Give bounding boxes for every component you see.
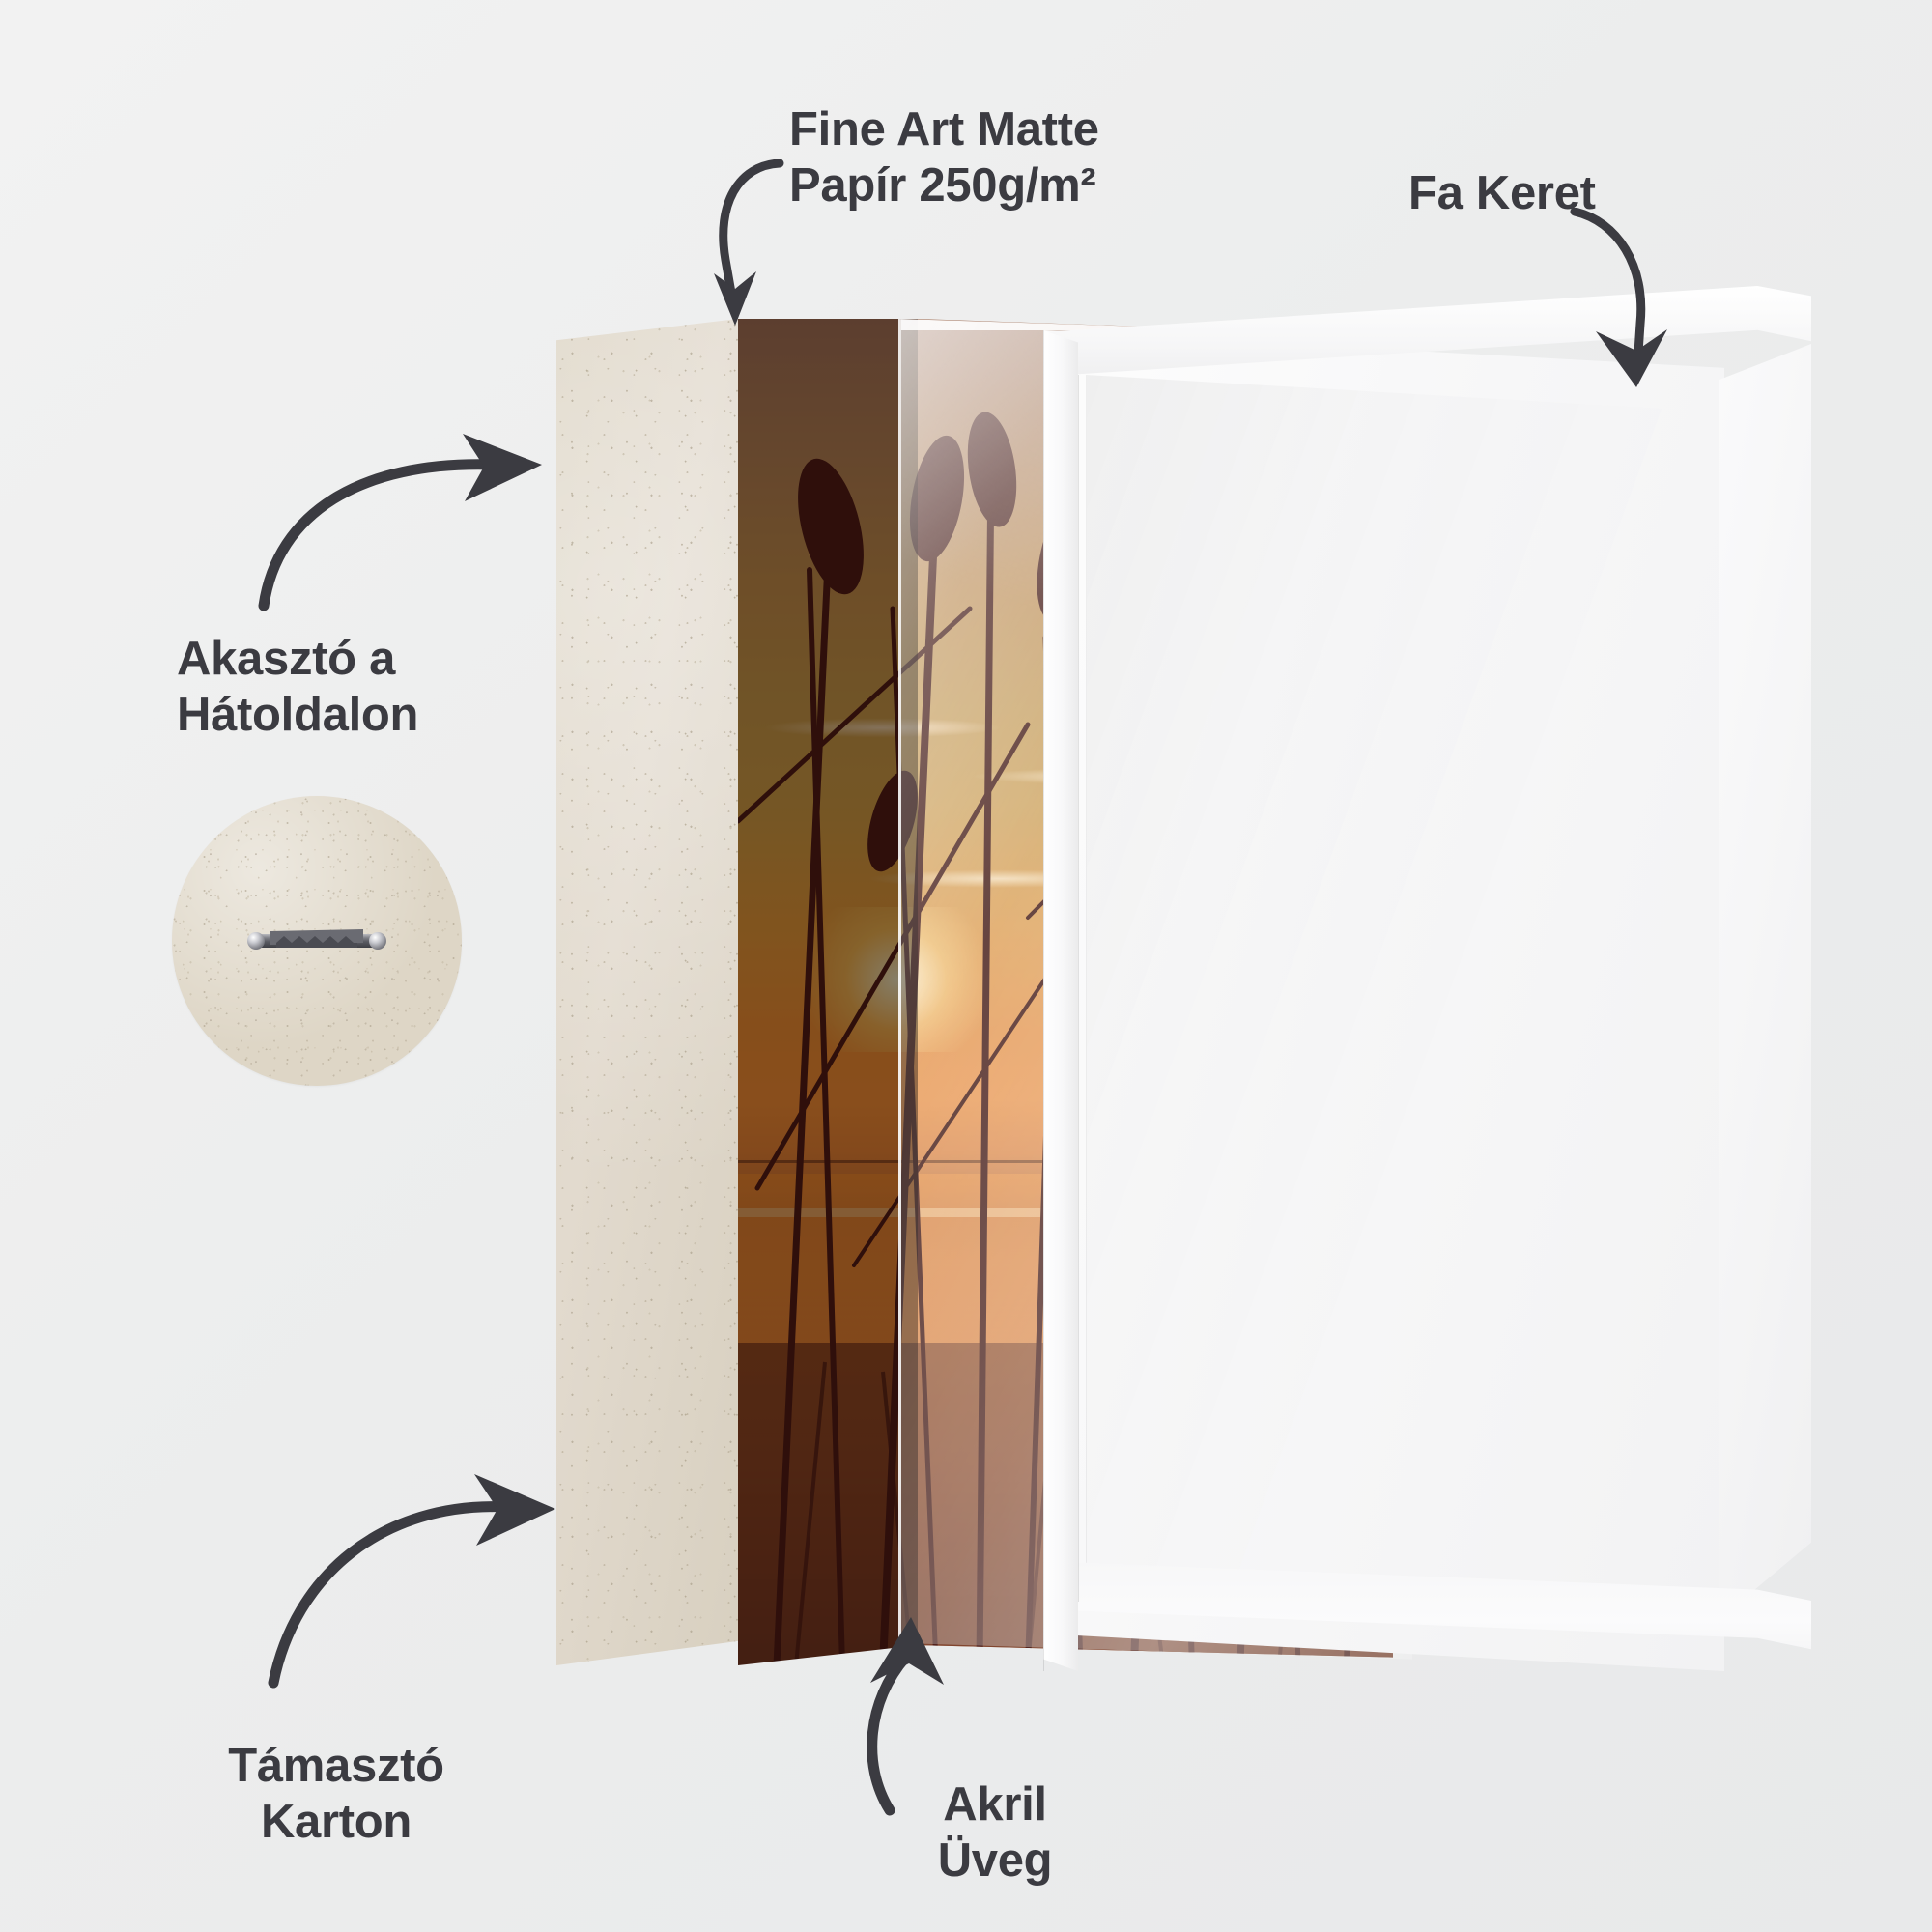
frame-hairline-outer xyxy=(1043,330,1044,1671)
artwork-sunset-reeds xyxy=(738,319,918,1665)
sawtooth-hanger-icon xyxy=(241,924,392,957)
hanger-detail-circle xyxy=(172,796,462,1086)
label-acrylic-glass: Akril Üveg xyxy=(879,1777,1111,1889)
layer-wood-frame xyxy=(1043,286,1811,1671)
frame-hairline-left xyxy=(1078,375,1079,1602)
reed-silhouettes xyxy=(738,319,918,1665)
label-hanger-on-back: Akasztó a Hátoldalon xyxy=(177,632,418,744)
frame-inner-rebate xyxy=(1086,375,1682,1621)
diagram-canvas: Fine Art Matte Papír 250g/m² Fa Keret Ak… xyxy=(0,0,1932,1932)
label-backing-carton: Támasztó Karton xyxy=(177,1739,496,1851)
frame-right-side xyxy=(1719,344,1811,1619)
label-wood-frame: Fa Keret xyxy=(1408,166,1596,222)
layer-fine-art-print xyxy=(738,319,918,1665)
label-fine-art-paper: Fine Art Matte Papír 250g/m² xyxy=(789,102,1099,214)
frame-left-rail xyxy=(1043,330,1078,1671)
layer-backing-carton xyxy=(556,319,738,1665)
carton-grain-texture xyxy=(556,319,738,1665)
